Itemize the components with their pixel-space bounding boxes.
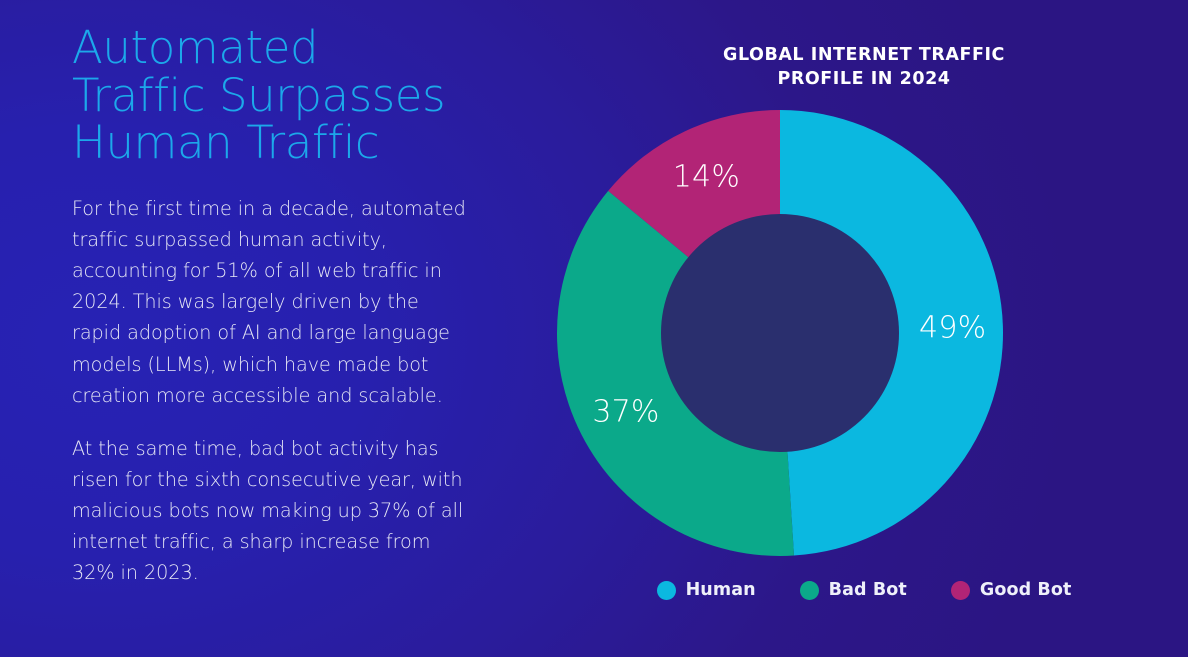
legend-item-label: Human xyxy=(686,580,756,600)
body-paragraph-2: At the same time, bad bot activity has r… xyxy=(72,433,472,588)
legend-swatch-icon xyxy=(951,581,970,600)
donut-chart-svg: 49%37%14% xyxy=(557,110,1003,556)
legend-swatch-icon xyxy=(800,581,819,600)
infographic-canvas: Automated Traffic Surpasses Human Traffi… xyxy=(0,0,1188,657)
chart-legend: HumanBad BotGood Bot xyxy=(540,580,1188,600)
body-paragraph-1: For the first time in a decade, automate… xyxy=(72,193,472,411)
legend-item-human[interactable]: Human xyxy=(657,580,756,600)
donut-slice-label-human: 49% xyxy=(919,311,986,346)
legend-swatch-icon xyxy=(657,581,676,600)
text-column: Automated Traffic Surpasses Human Traffi… xyxy=(72,24,492,588)
legend-item-good-bot[interactable]: Good Bot xyxy=(951,580,1072,600)
donut-slice-label-bad-bot: 37% xyxy=(592,395,659,430)
donut-center-hole xyxy=(661,214,899,452)
chart-column: GLOBAL INTERNET TRAFFIC PROFILE IN 2024 … xyxy=(540,0,1188,657)
legend-item-bad-bot[interactable]: Bad Bot xyxy=(800,580,907,600)
legend-item-label: Bad Bot xyxy=(829,580,907,600)
legend-item-label: Good Bot xyxy=(980,580,1072,600)
page-title: Automated Traffic Surpasses Human Traffi… xyxy=(72,24,492,167)
chart-title: GLOBAL INTERNET TRAFFIC PROFILE IN 2024 xyxy=(540,43,1188,91)
donut-chart: 49%37%14% xyxy=(557,110,1003,556)
donut-slice-label-good-bot: 14% xyxy=(673,160,740,195)
